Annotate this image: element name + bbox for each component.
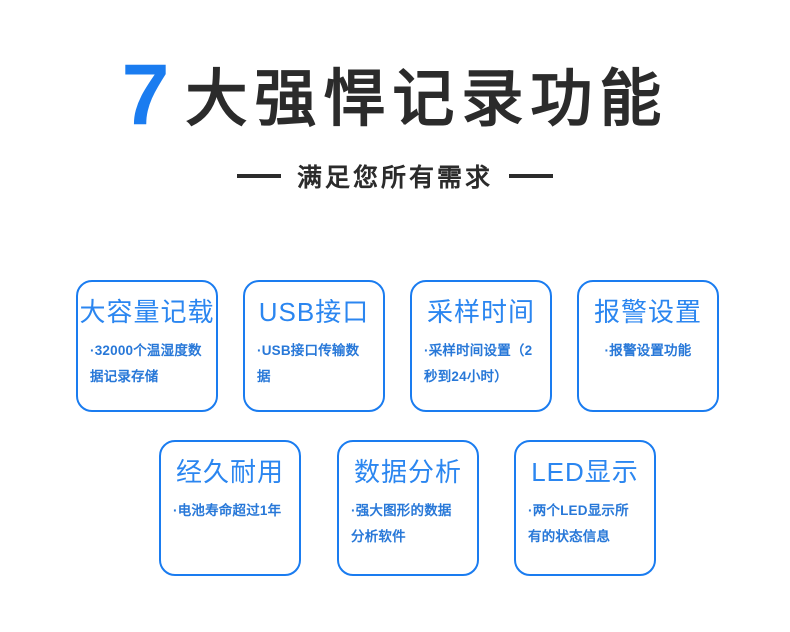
feature-card-usb[interactable]: USB接口 ·USB接口传输数据 xyxy=(243,280,385,412)
title-text: 大强悍记录功能 xyxy=(185,65,668,134)
feature-card-title: LED显示 xyxy=(516,458,654,487)
feature-card-title: 数据分析 xyxy=(339,458,477,487)
feature-card-title: 经久耐用 xyxy=(161,458,299,487)
feature-card-body: ·强大图形的数据分析软件 xyxy=(351,498,465,551)
feature-card-title: USB接口 xyxy=(245,298,383,327)
title-number: 7 xyxy=(122,47,170,143)
feature-card-alarm[interactable]: 报警设置 ·报警设置功能 xyxy=(577,280,719,412)
feature-card-body: ·采样时间设置（2秒到24小时） xyxy=(424,338,538,391)
feature-card-body: ·两个LED显示所有的状态信息 xyxy=(528,498,642,551)
feature-card-body: ·报警设置功能 xyxy=(591,338,705,364)
feature-card-body: ·USB接口传输数据 xyxy=(257,338,371,391)
page-header: 7大强悍记录功能 满足您所有需求 xyxy=(0,0,790,230)
subtitle-row: 满足您所有需求 xyxy=(0,158,790,194)
feature-card-title: 大容量记载 xyxy=(78,298,216,327)
feature-card-led-display[interactable]: LED显示 ·两个LED显示所有的状态信息 xyxy=(514,440,656,576)
feature-card-title: 报警设置 xyxy=(579,298,717,327)
feature-card-sampling-time[interactable]: 采样时间 ·采样时间设置（2秒到24小时） xyxy=(410,280,552,412)
feature-card-title: 采样时间 xyxy=(412,298,550,327)
feature-card-durability[interactable]: 经久耐用 ·电池寿命超过1年 xyxy=(159,440,301,576)
feature-card-capacity[interactable]: 大容量记载 ·32000个温湿度数据记录存储 xyxy=(76,280,218,412)
page-title: 7大强悍记录功能 xyxy=(0,52,790,138)
subtitle-text: 满足您所有需求 xyxy=(297,158,493,194)
dash-right-icon xyxy=(509,174,553,178)
dash-left-icon xyxy=(237,174,281,178)
feature-card-body: ·32000个温湿度数据记录存储 xyxy=(90,338,204,391)
feature-card-body: ·电池寿命超过1年 xyxy=(173,498,287,524)
feature-card-data-analysis[interactable]: 数据分析 ·强大图形的数据分析软件 xyxy=(337,440,479,576)
